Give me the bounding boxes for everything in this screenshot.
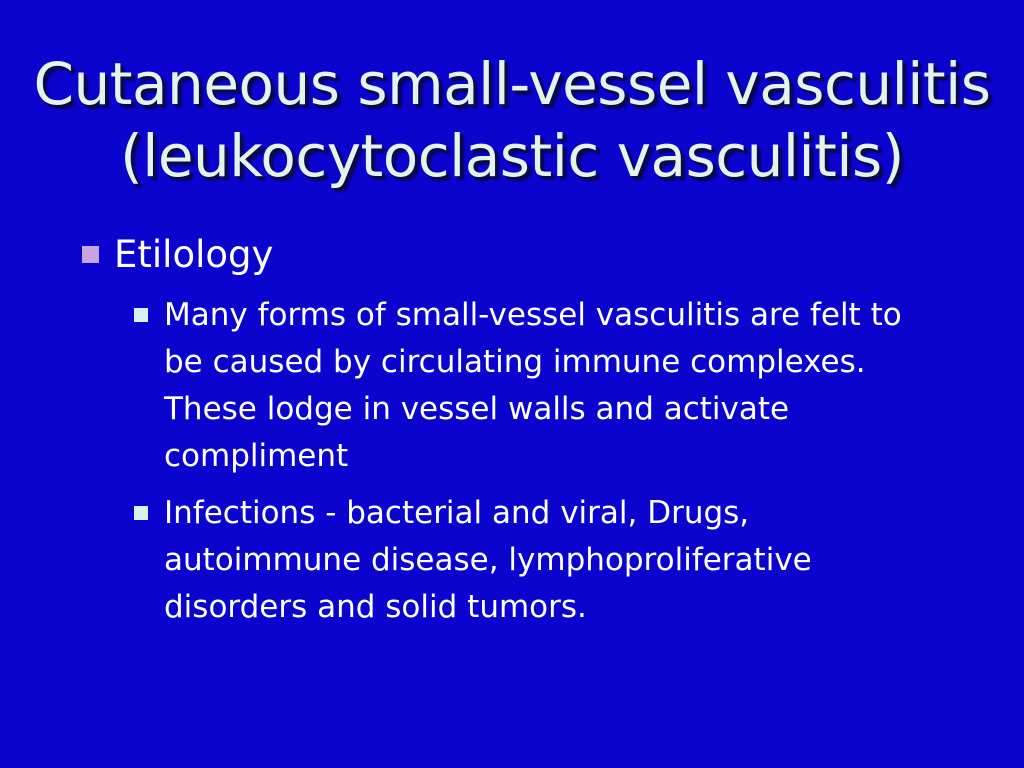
bullet-level1-etiology: Etilology: [82, 232, 962, 278]
slide-title-line-1: Cutaneous small-vessel vasculitis: [24, 48, 1000, 120]
slide-body: Etilology Many forms of small-vessel vas…: [82, 232, 962, 641]
slide-canvas: Cutaneous small-vessel vasculitis (leuko…: [0, 0, 1024, 768]
bullet-level1-label: Etilology: [114, 232, 273, 278]
slide-title: Cutaneous small-vessel vasculitis (leuko…: [0, 48, 1024, 192]
bullet-level2-immune-complexes: Many forms of small-vessel vasculitis ar…: [134, 292, 962, 480]
bullet-level2-label: Many forms of small-vessel vasculitis ar…: [164, 292, 934, 480]
bullet-square-icon: [134, 506, 148, 520]
bullet-square-icon: [134, 308, 148, 322]
slide-title-line-2: (leukocytoclastic vasculitis): [24, 120, 1000, 192]
bullet-level2-group: Many forms of small-vessel vasculitis ar…: [134, 292, 962, 631]
bullet-square-icon: [82, 246, 99, 263]
bullet-level2-label: Infections - bacterial and viral, Drugs,…: [164, 490, 934, 631]
bullet-level2-causes: Infections - bacterial and viral, Drugs,…: [134, 490, 962, 631]
